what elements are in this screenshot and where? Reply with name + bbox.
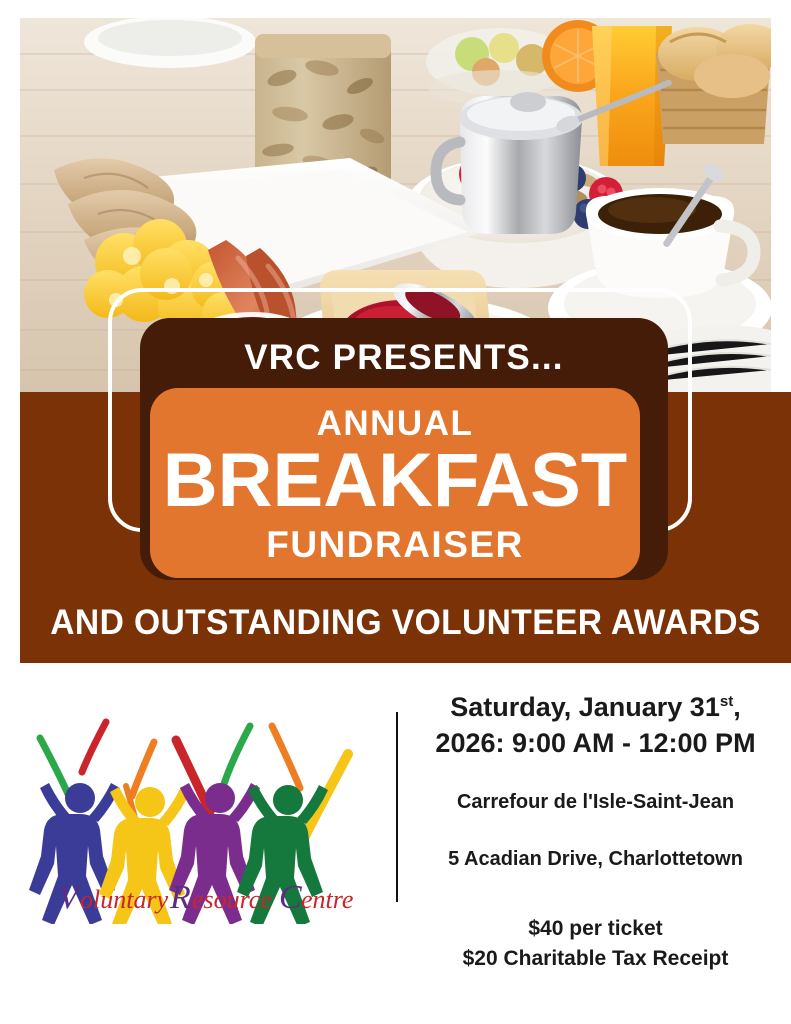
fundraiser-headline: FUNDRAISER (150, 526, 640, 563)
svg-text:entre: entre (301, 885, 353, 914)
event-date-line2: 2026: 9:00 AM - 12:00 PM (435, 728, 755, 758)
breakfast-headline: BREAKFAST (150, 443, 640, 519)
svg-text:C: C (279, 879, 302, 916)
event-venue: Carrefour de l'Isle-Saint-Jean (400, 789, 791, 815)
svg-text:oluntary: oluntary (80, 885, 169, 914)
ticket-price: $40 per ticket (400, 914, 791, 944)
presents-headline: VRC PRESENTS... (140, 340, 668, 375)
event-date-prefix: Saturday, January 31 (450, 692, 720, 722)
event-date-ordinal: st (720, 693, 733, 710)
poster-root: VRC PRESENTS... ANNUAL BREAKFAST FUNDRAI… (0, 0, 791, 1024)
logo-artwork: V oluntary R esource C entre (26, 706, 366, 924)
voluntary-resource-centre-logo: V oluntary R esource C entre (26, 706, 366, 924)
awards-subtitle: AND OUTSTANDING VOLUNTEER AWARDS (35, 605, 775, 640)
event-date-comma: , (733, 692, 741, 722)
annual-headline: ANNUAL (150, 406, 640, 441)
event-details: Saturday, January 31st, 2026: 9:00 AM - … (400, 690, 791, 974)
event-date: Saturday, January 31st, 2026: 9:00 AM - … (400, 690, 791, 761)
vertical-divider (396, 712, 398, 902)
svg-text:R: R (169, 879, 191, 916)
svg-text:esource: esource (192, 885, 272, 914)
event-address: 5 Acadian Drive, Charlottetown (400, 846, 791, 872)
tax-receipt-amount: $20 Charitable Tax Receipt (400, 944, 791, 974)
orange-headline-panel: ANNUAL BREAKFAST FUNDRAISER (150, 388, 640, 578)
logo-wordmark: V oluntary R esource C entre (58, 879, 353, 916)
